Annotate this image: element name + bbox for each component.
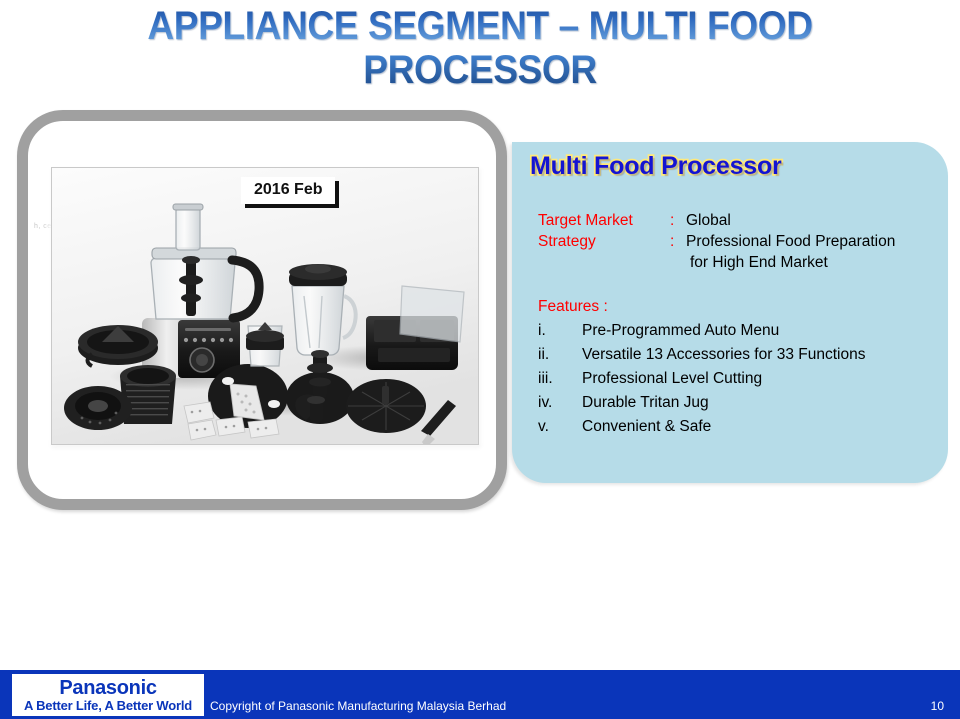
spec-label: Target Market (538, 210, 670, 231)
spec-label: Strategy (538, 231, 670, 252)
footer-bar: Panasonic A Better Life, A Better World … (0, 670, 960, 719)
spec-colon: : (670, 210, 686, 231)
dry-mill-accessory (246, 322, 284, 366)
feature-item: v. Convenient & Safe (538, 416, 865, 437)
feature-number: iii. (538, 368, 582, 389)
feature-number: v. (538, 416, 582, 437)
grating-disc-accessory (64, 386, 132, 430)
feature-item: i. Pre-Programmed Auto Menu (538, 320, 865, 341)
feature-text: Pre-Programmed Auto Menu (582, 320, 779, 341)
spec-row-target-market: Target Market : Global (538, 210, 895, 231)
feature-item: iv. Durable Tritan Jug (538, 392, 865, 413)
product-info-panel: Multi Food Processor Target Market : Glo… (512, 142, 948, 483)
feature-text: Convenient & Safe (582, 416, 711, 437)
feature-text: Professional Level Cutting (582, 368, 762, 389)
spec-list: Target Market : Global Strategy : Profes… (538, 210, 895, 273)
product-photo-frame: h, ces o (17, 110, 507, 510)
emulsifying-disc-accessory (346, 379, 426, 433)
product-name-heading: Multi Food Processor (530, 152, 782, 181)
spec-value: Professional Food Preparation (686, 231, 895, 252)
spec-row-strategy: Strategy : Professional Food Preparation (538, 231, 895, 252)
slicing-disc-accessory (208, 364, 288, 428)
feature-text: Durable Tritan Jug (582, 392, 709, 413)
product-photo-illustration (52, 168, 478, 444)
page-title-line-2: PROCESSOR (34, 48, 927, 92)
citrus-juicer-accessory (78, 325, 158, 366)
spec-value: Global (686, 210, 731, 231)
spec-colon: : (670, 231, 686, 252)
feature-number: i. (538, 320, 582, 341)
feature-number: iv. (538, 392, 582, 413)
logo-tagline: A Better Life, A Better World (24, 698, 192, 713)
features-section: Features : i. Pre-Programmed Auto Menu i… (538, 296, 865, 437)
product-photo (51, 167, 479, 445)
feature-text: Versatile 13 Accessories for 33 Function… (582, 344, 865, 365)
page-number: 10 (931, 699, 944, 713)
feature-item: ii. Versatile 13 Accessories for 33 Func… (538, 344, 865, 365)
feature-number: ii. (538, 344, 582, 365)
spec-value-continuation: for High End Market (690, 252, 895, 273)
date-badge: 2016 Feb (241, 177, 335, 204)
page-title: APPLIANCE SEGMENT – MULTI FOODPROCESSOR (34, 4, 927, 92)
feature-item: iii. Professional Level Cutting (538, 368, 865, 389)
logo-wordmark: Panasonic (59, 678, 156, 698)
panasonic-logo: Panasonic A Better Life, A Better World (12, 674, 204, 716)
page-title-line-1: APPLIANCE SEGMENT – MULTI FOOD (147, 4, 812, 48)
features-heading: Features : (538, 296, 865, 317)
copyright-text: Copyright of Panasonic Manufacturing Mal… (210, 699, 506, 713)
